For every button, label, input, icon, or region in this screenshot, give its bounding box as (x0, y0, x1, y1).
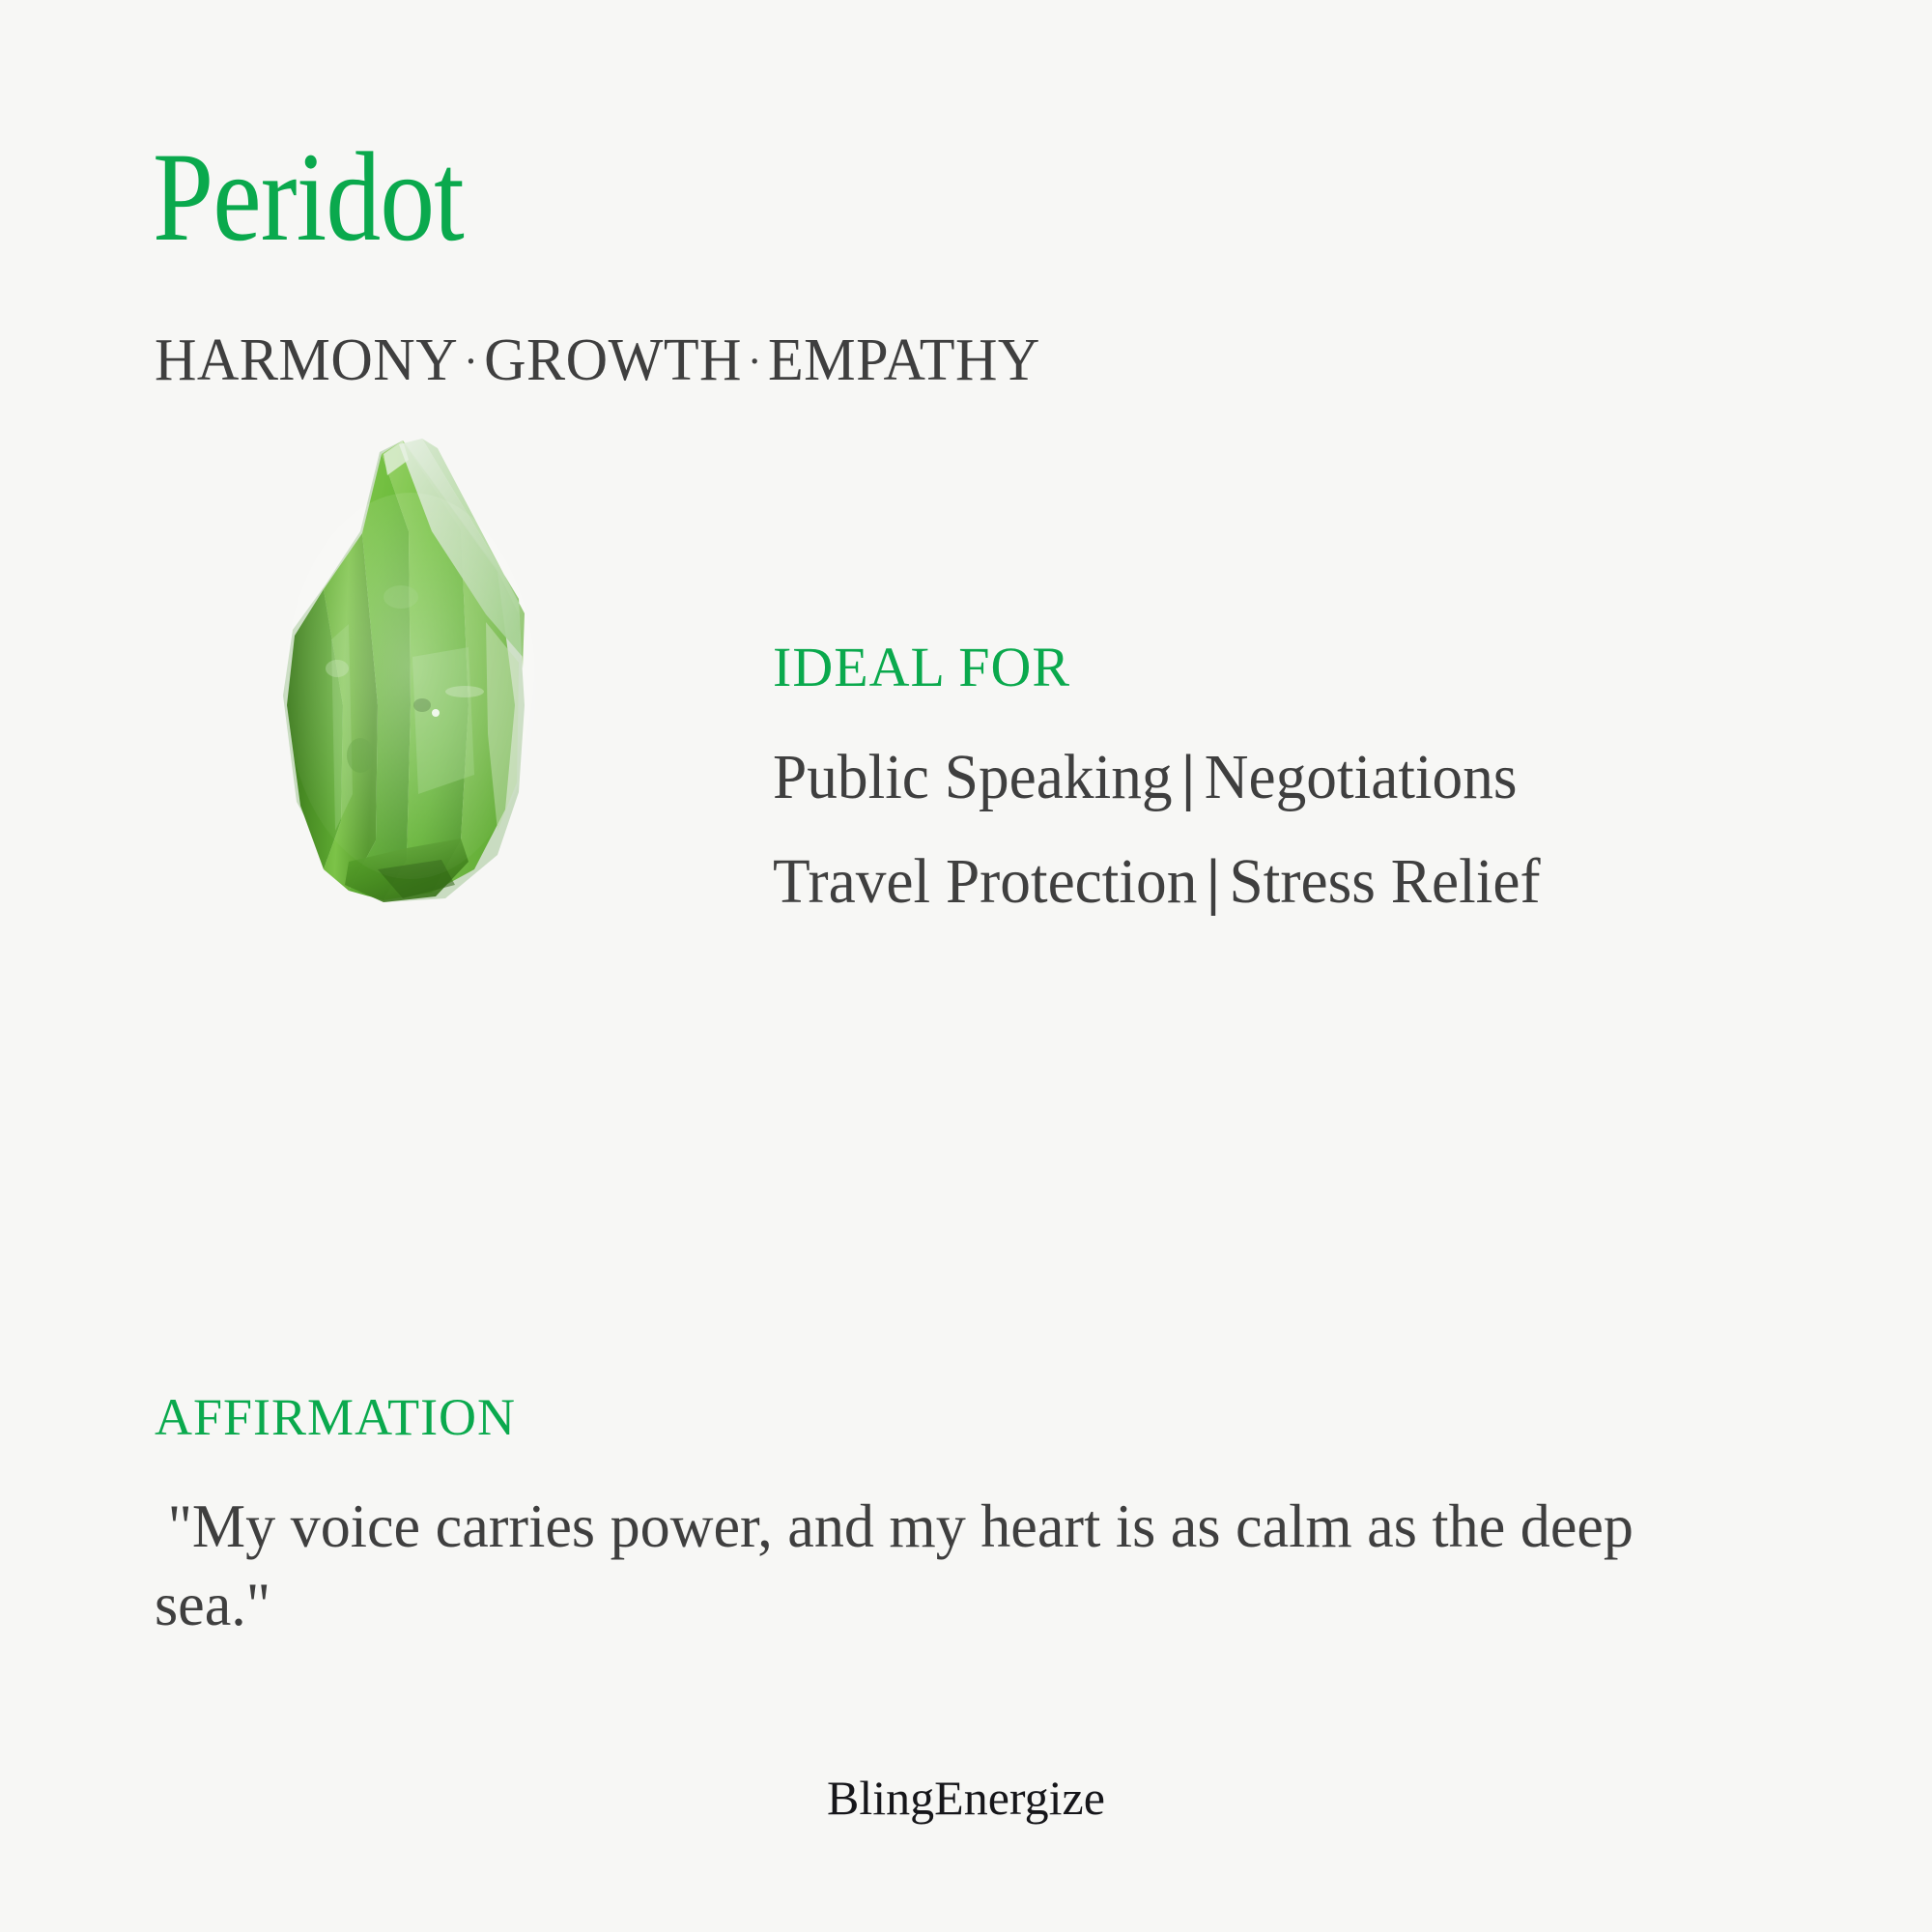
ideal-for-separator-1: | (1173, 742, 1205, 812)
affirmation-heading: AFFIRMATION (155, 1391, 1797, 1443)
tagline-separator-dot-2: · (742, 336, 768, 385)
ideal-for-row-2: Travel Protection|Stress Relief (773, 850, 1811, 914)
brand-wordmark: BlingEnergize (0, 1774, 1932, 1822)
ideal-for-list: Public Speaking|Negotiations Travel Prot… (773, 746, 1855, 914)
ideal-for-heading: IDEAL FOR (773, 639, 1855, 696)
ideal-for-separator-2: | (1197, 846, 1229, 917)
gemstone-info-card: Peridot HARMONY·GROWTH·EMPATHY (0, 0, 1932, 1932)
tagline-word-3: EMPATHY (768, 327, 1040, 393)
ideal-for-item-3: Travel Protection (773, 846, 1197, 917)
ideal-for-item-4: Stress Relief (1230, 846, 1541, 917)
ideal-for-item-1: Public Speaking (773, 742, 1173, 812)
ideal-for-item-2: Negotiations (1205, 742, 1518, 812)
tagline-word-1: HARMONY (155, 327, 458, 393)
crystal-glow (285, 493, 536, 879)
ideal-for-row-1: Public Speaking|Negotiations (773, 746, 1811, 810)
affirmation-quote: "My voice carries power, and my heart is… (155, 1488, 1747, 1643)
ideal-for-section: IDEAL FOR Public Speaking|Negotiations T… (773, 639, 1855, 914)
tagline: HARMONY·GROWTH·EMPATHY (155, 330, 1040, 390)
tagline-separator-dot-1: · (458, 336, 484, 385)
crystal-svg (179, 415, 613, 956)
peridot-crystal-image (179, 415, 613, 956)
affirmation-section: AFFIRMATION "My voice carries power, and… (155, 1391, 1797, 1643)
page-title: Peridot (153, 133, 464, 261)
tagline-word-2: GROWTH (484, 327, 742, 393)
